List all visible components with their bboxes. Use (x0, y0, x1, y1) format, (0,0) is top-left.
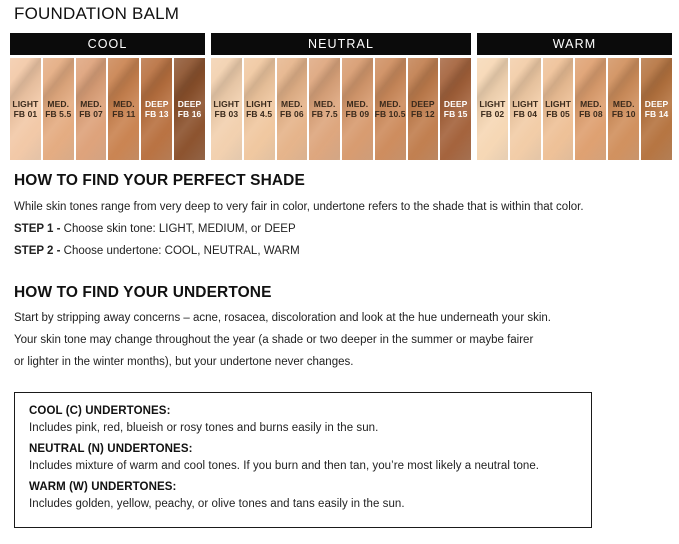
swatch-tone: MED. (579, 99, 603, 109)
step-2-label: STEP 2 - (14, 245, 60, 257)
shade-swatch[interactable]: DEEPFB 15 (440, 58, 471, 160)
undertone-term: WARM (W) UNDERTONES: (29, 481, 577, 493)
shade-group-warm: WARMLIGHTFB 02LIGHTFB 04LIGHTFB 05MED.FB… (477, 33, 672, 160)
swatch-label: LIGHTFB 01 (12, 99, 38, 119)
shade-swatch[interactable]: MED.FB 09 (342, 58, 373, 160)
swatch-tone: MED. (45, 99, 71, 109)
swatch-row: LIGHTFB 01MED.FB 5.5MED.FB 07MED.FB 11DE… (10, 58, 205, 160)
step-1-line: STEP 1 - Choose skin tone: LIGHT, MEDIUM… (14, 222, 296, 236)
swatch-code: FB 02 (479, 109, 505, 119)
swatch-code: FB 01 (12, 109, 38, 119)
swatch-label: LIGHTFB 04 (512, 99, 538, 119)
group-header-warm: WARM (477, 33, 672, 55)
swatch-code: FB 10 (612, 109, 636, 119)
shade-chart: COOLLIGHTFB 01MED.FB 5.5MED.FB 07MED.FB … (10, 33, 672, 160)
swatch-label: MED.FB 5.5 (45, 99, 71, 119)
perfect-shade-intro: While skin tones range from very deep to… (14, 200, 584, 214)
swatch-code: FB 5.5 (45, 109, 71, 119)
swatch-label: MED.FB 07 (79, 99, 103, 119)
shade-swatch[interactable]: LIGHTFB 04 (510, 58, 541, 160)
swatch-label: MED.FB 08 (579, 99, 603, 119)
swatch-code: FB 05 (545, 109, 571, 119)
swatch-label: DEEPFB 16 (178, 99, 202, 119)
undertone-paragraph-line-3: or lighter in the winter months), but yo… (14, 355, 353, 369)
swatch-label: MED.FB 7.5 (312, 99, 338, 119)
undertone-description: Includes mixture of warm and cool tones.… (29, 460, 577, 472)
group-header-cool: COOL (10, 33, 205, 55)
undertone-term: COOL (C) UNDERTONES: (29, 405, 577, 417)
swatch-label: DEEPFB 15 (444, 99, 468, 119)
undertone-paragraph-line-1: Start by stripping away concerns – acne,… (14, 311, 551, 325)
swatch-code: FB 7.5 (312, 109, 338, 119)
swatch-code: FB 14 (645, 109, 669, 119)
swatch-tone: MED. (612, 99, 636, 109)
shade-swatch[interactable]: MED.FB 10.5 (375, 58, 406, 160)
swatch-code: FB 11 (112, 109, 135, 119)
swatch-tone: MED. (112, 99, 135, 109)
undertone-term: NEUTRAL (N) UNDERTONES: (29, 443, 577, 455)
swatch-tone: MED. (280, 99, 304, 109)
swatch-label: MED.FB 09 (346, 99, 370, 119)
step-2-text: Choose undertone: COOL, NEUTRAL, WARM (60, 245, 299, 257)
shade-swatch[interactable]: DEEPFB 13 (141, 58, 172, 160)
swatch-code: FB 16 (178, 109, 202, 119)
swatch-code: FB 04 (512, 109, 538, 119)
swatch-code: FB 12 (411, 109, 435, 119)
shade-swatch[interactable]: MED.FB 06 (277, 58, 308, 160)
shade-swatch[interactable]: LIGHTFB 05 (543, 58, 574, 160)
swatch-tone: DEEP (411, 99, 435, 109)
page-title: FOUNDATION BALM (14, 4, 179, 24)
swatch-tone: LIGHT (12, 99, 38, 109)
swatch-code: FB 4.5 (246, 109, 272, 119)
swatch-tone: DEEP (145, 99, 169, 109)
swatch-tone: DEEP (444, 99, 468, 109)
shade-swatch[interactable]: MED.FB 11 (108, 58, 139, 160)
swatch-label: LIGHTFB 02 (479, 99, 505, 119)
swatch-tone: MED. (312, 99, 338, 109)
swatch-row: LIGHTFB 03LIGHTFB 4.5MED.FB 06MED.FB 7.5… (211, 58, 471, 160)
swatch-label: MED.FB 10.5 (375, 99, 406, 119)
shade-swatch[interactable]: LIGHTFB 01 (10, 58, 41, 160)
shade-group-neutral: NEUTRALLIGHTFB 03LIGHTFB 4.5MED.FB 06MED… (211, 33, 471, 160)
shade-swatch[interactable]: LIGHTFB 03 (211, 58, 242, 160)
undertone-entry: WARM (W) UNDERTONES:Includes golden, yel… (29, 481, 577, 510)
shade-swatch[interactable]: DEEPFB 16 (174, 58, 205, 160)
swatch-row: LIGHTFB 02LIGHTFB 04LIGHTFB 05MED.FB 08M… (477, 58, 672, 160)
shade-swatch[interactable]: MED.FB 08 (575, 58, 606, 160)
shade-swatch[interactable]: DEEPFB 12 (408, 58, 439, 160)
swatch-tone: MED. (375, 99, 406, 109)
swatch-code: FB 15 (444, 109, 468, 119)
shade-swatch[interactable]: MED.FB 07 (76, 58, 107, 160)
swatch-code: FB 07 (79, 109, 103, 119)
step-1-label: STEP 1 - (14, 223, 60, 235)
swatch-code: FB 09 (346, 109, 370, 119)
undertone-entry: NEUTRAL (N) UNDERTONES:Includes mixture … (29, 443, 577, 472)
undertone-heading: HOW TO FIND YOUR UNDERTONE (14, 284, 272, 302)
swatch-code: FB 13 (145, 109, 169, 119)
shade-swatch[interactable]: MED.FB 10 (608, 58, 639, 160)
shade-swatch[interactable]: MED.FB 5.5 (43, 58, 74, 160)
shade-swatch[interactable]: DEEPFB 14 (641, 58, 672, 160)
shade-swatch[interactable]: LIGHTFB 02 (477, 58, 508, 160)
swatch-tone: LIGHT (479, 99, 505, 109)
undertone-description: Includes pink, red, blueish or rosy tone… (29, 422, 577, 434)
swatch-tone: LIGHT (545, 99, 571, 109)
swatch-code: FB 03 (213, 109, 239, 119)
swatch-tone: LIGHT (246, 99, 272, 109)
undertone-entry: COOL (C) UNDERTONES:Includes pink, red, … (29, 405, 577, 434)
swatch-tone: DEEP (645, 99, 669, 109)
swatch-code: FB 06 (280, 109, 304, 119)
swatch-tone: LIGHT (512, 99, 538, 109)
swatch-tone: MED. (346, 99, 370, 109)
swatch-label: MED.FB 06 (280, 99, 304, 119)
swatch-label: DEEPFB 14 (645, 99, 669, 119)
swatch-label: MED.FB 11 (112, 99, 135, 119)
swatch-label: LIGHTFB 4.5 (246, 99, 272, 119)
swatch-label: MED.FB 10 (612, 99, 636, 119)
swatch-label: LIGHTFB 03 (213, 99, 239, 119)
swatch-label: LIGHTFB 05 (545, 99, 571, 119)
step-1-text: Choose skin tone: LIGHT, MEDIUM, or DEEP (60, 223, 295, 235)
undertone-paragraph-line-2: Your skin tone may change throughout the… (14, 333, 533, 347)
shade-group-cool: COOLLIGHTFB 01MED.FB 5.5MED.FB 07MED.FB … (10, 33, 205, 160)
perfect-shade-heading: HOW TO FIND YOUR PERFECT SHADE (14, 172, 305, 190)
swatch-tone: DEEP (178, 99, 202, 109)
swatch-code: FB 10.5 (375, 109, 406, 119)
step-2-line: STEP 2 - Choose undertone: COOL, NEUTRAL… (14, 244, 300, 258)
swatch-label: DEEPFB 12 (411, 99, 435, 119)
undertone-definitions-box: COOL (C) UNDERTONES:Includes pink, red, … (14, 392, 592, 528)
undertone-description: Includes golden, yellow, peachy, or oliv… (29, 498, 577, 510)
shade-swatch[interactable]: LIGHTFB 4.5 (244, 58, 275, 160)
swatch-tone: MED. (79, 99, 103, 109)
swatch-code: FB 08 (579, 109, 603, 119)
shade-swatch[interactable]: MED.FB 7.5 (309, 58, 340, 160)
swatch-tone: LIGHT (213, 99, 239, 109)
group-header-neutral: NEUTRAL (211, 33, 471, 55)
swatch-label: DEEPFB 13 (145, 99, 169, 119)
